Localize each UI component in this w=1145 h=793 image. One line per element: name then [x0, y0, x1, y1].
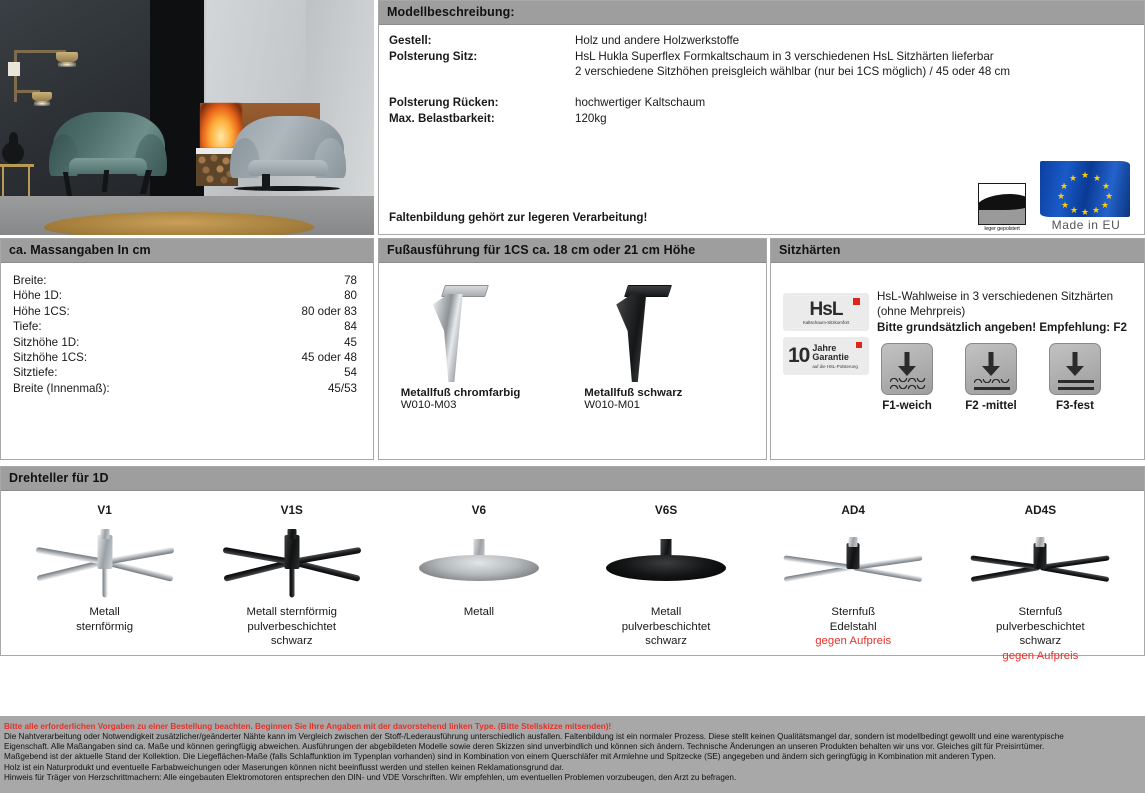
- measurement-value: 80: [344, 288, 357, 303]
- leg-code: W010-M03: [401, 399, 561, 411]
- made-in-eu-badge: ★ ★ ★ ★ ★ ★ ★ ★ ★ ★ ★ ★ Made in EU: [1040, 161, 1132, 232]
- measurement-label: Breite:: [13, 273, 47, 288]
- desc-label: Polsterung Rücken:: [389, 95, 575, 111]
- desc-value: 120kg: [575, 111, 1134, 127]
- swivel-base-title: Drehteller für 1D: [1, 467, 1144, 491]
- firmness-label: F2 -mittel: [963, 399, 1019, 412]
- swivel-desc-line: Metall: [16, 605, 194, 620]
- arrow-down-firm-icon: [1049, 343, 1101, 395]
- black-leg-icon: [610, 285, 672, 385]
- leg-name: Metallfuß schwarz: [584, 387, 744, 399]
- warranty-badge-icon: 10 Jahre Garantie auf die HSL-Polsterung: [783, 337, 869, 375]
- swivel-image-v6: [390, 521, 568, 601]
- firmness-text-line: (ohne Mehrpreis): [877, 304, 1139, 319]
- measurement-row: Breite (Innenmaß): 45/53: [11, 381, 363, 396]
- eu-flag-icon: ★ ★ ★ ★ ★ ★ ★ ★ ★ ★ ★ ★: [1040, 161, 1130, 217]
- measurement-value: 45: [344, 335, 357, 350]
- loose-upholstery-badge: leger gepolstert: [978, 183, 1026, 232]
- swivel-desc-line: pulverbeschichtet: [577, 620, 755, 635]
- product-lifestyle-photo: [0, 0, 374, 235]
- measurement-label: Höhe 1CS:: [13, 304, 70, 319]
- order-warning-text: Bitte alle erforderlichen Vorgaben zu ei…: [4, 722, 1141, 732]
- firmness-panel: Sitzhärten HsL Kaltschaum-Sitzkomfort 10…: [770, 238, 1145, 460]
- leg-option-item[interactable]: Metallfuß chromfarbig W010-M03: [401, 279, 561, 411]
- disc-base-black-icon: [606, 539, 726, 585]
- arrow-down-medium-icon: [965, 343, 1017, 395]
- leg-name: Metallfuß chromfarbig: [401, 387, 561, 399]
- swivel-image-v1: [16, 521, 194, 601]
- desc-label: [389, 64, 575, 80]
- swivel-image-ad4: [764, 521, 942, 601]
- measurement-label: Sitzhöhe 1D:: [13, 335, 79, 350]
- model-description-panel: Modellbeschreibung: Gestell: Holz und an…: [378, 0, 1145, 235]
- hsl-wordmark: HsL: [810, 300, 843, 319]
- measurement-value: 54: [344, 365, 357, 380]
- desc-value: HsL Hukla Superflex Formkaltschaum in 3 …: [575, 49, 1134, 65]
- side-table-with-vase: [0, 128, 34, 196]
- made-in-eu-caption: Made in EU: [1040, 218, 1132, 232]
- armchair-grey: [228, 116, 350, 198]
- chimney: [206, 0, 306, 104]
- firmness-text-line: HsL-Wahlweise in 3 verschiedenen Sitzhär…: [877, 289, 1139, 304]
- disc-base-metal-icon: [419, 539, 539, 585]
- swivel-image-v6s: [577, 521, 755, 601]
- measurement-label: Höhe 1D:: [13, 288, 62, 303]
- swivel-desc-line: Sternfuß: [764, 605, 942, 620]
- swivel-description: Metall sternförmig pulverbeschichtet sch…: [203, 605, 381, 649]
- desc-value: 2 verschiedene Sitzhöhen preisgleich wäh…: [575, 64, 1134, 80]
- swivel-image-v1s: [203, 521, 381, 601]
- measurements-title: ca. Massangaben In cm: [1, 239, 373, 263]
- swivel-desc-line: Metall: [390, 605, 568, 620]
- swivel-code: V6S: [577, 503, 755, 517]
- desc-spacer: [389, 80, 1134, 96]
- warranty-line2: Garantie: [812, 353, 857, 363]
- swivel-desc-line: schwarz: [951, 634, 1129, 649]
- measurement-value: 80 oder 83: [302, 304, 357, 319]
- desc-value: Holz und andere Holzwerkstoffe: [575, 33, 1134, 49]
- measurement-label: Breite (Innenmaß):: [13, 381, 110, 396]
- swivel-desc-line: Edelstahl: [764, 620, 942, 635]
- firmness-text-line: Bitte grundsätzlich angeben! Empfehlung:…: [877, 320, 1139, 335]
- leg-options-panel: Fußausführung für 1CS ca. 18 cm oder 21 …: [378, 238, 767, 460]
- desc-value: hochwertiger Kaltschaum: [575, 95, 1134, 111]
- swivel-desc-line: schwarz: [203, 634, 381, 649]
- disclaimer-line: Maßgebend ist der aktuelle Stand der Kol…: [4, 752, 1141, 762]
- arrow-down-soft-icon: [881, 343, 933, 395]
- swivel-code: V6: [390, 503, 568, 517]
- firmness-label: F1-weich: [879, 399, 935, 412]
- firmness-label: F3-fest: [1047, 399, 1103, 412]
- swivel-option-v1s[interactable]: V1S Metall sternförmig: [203, 503, 381, 663]
- measurement-row: Sitztiefe: 54: [11, 365, 363, 380]
- swivel-desc-line: Sternfuß: [951, 605, 1129, 620]
- measurement-row: Sitzhöhe 1D: 45: [11, 335, 363, 350]
- measurement-row: Höhe 1CS: 80 oder 83: [11, 304, 363, 319]
- firmness-option-f1[interactable]: F1-weich: [879, 343, 935, 412]
- firmness-description: HsL-Wahlweise in 3 verschiedenen Sitzhär…: [877, 289, 1139, 335]
- swivel-description: Metall: [390, 605, 568, 620]
- swivel-desc-line: Metall: [577, 605, 755, 620]
- model-description-title: Modellbeschreibung:: [379, 1, 1144, 25]
- swivel-desc-line: pulverbeschichtet: [203, 620, 381, 635]
- swivel-image-ad4s: [951, 521, 1129, 601]
- swivel-option-ad4s[interactable]: AD4S Sternfuß pulverbeschic: [951, 503, 1129, 663]
- product-spec-sheet: Modellbeschreibung: Gestell: Holz und an…: [0, 0, 1145, 793]
- measurement-label: Sitzhöhe 1CS:: [13, 350, 87, 365]
- swivel-description: Metall pulverbeschichtet schwarz: [577, 605, 755, 649]
- certification-badges: leger gepolstert ★ ★ ★ ★ ★ ★ ★ ★ ★ ★ ★: [978, 161, 1132, 232]
- star-base-black-flat-icon: [965, 535, 1115, 593]
- hsl-subtitle: Kaltschaum-Sitzkomfort: [803, 320, 849, 325]
- firmness-option-f2[interactable]: F2 -mittel: [963, 343, 1019, 412]
- measurement-value: 84: [344, 319, 357, 334]
- disclaimer-line: Die Nahtverarbeitung oder Notwendigkeit …: [4, 732, 1141, 742]
- disclaimer-line: Eigenschaft. Alle Maßangaben sind ca. Ma…: [4, 742, 1141, 752]
- swivel-code: AD4: [764, 503, 942, 517]
- measurement-label: Tiefe:: [13, 319, 42, 334]
- swivel-desc-line: schwarz: [577, 634, 755, 649]
- wall-lamp: [12, 42, 70, 112]
- star-base-stainless-icon: [778, 535, 928, 593]
- measurement-row: Tiefe: 84: [11, 319, 363, 334]
- firmness-title: Sitzhärten: [771, 239, 1144, 263]
- model-description-rows: Gestell: Holz und andere Holzwerkstoffe …: [389, 33, 1134, 126]
- desc-label: Gestell:: [389, 33, 575, 49]
- desc-label: Max. Belastbarkeit:: [389, 111, 575, 127]
- legal-disclaimer-footer: Bitte alle erforderlichen Vorgaben zu ei…: [0, 716, 1145, 793]
- firmness-option-f3[interactable]: F3-fest: [1047, 343, 1103, 412]
- swivel-code: V1S: [203, 503, 381, 517]
- measurement-value: 45/53: [328, 381, 357, 396]
- chrome-leg-icon: [427, 285, 489, 385]
- warranty-years: 10: [788, 346, 809, 366]
- star-base-black-icon: [217, 529, 367, 587]
- leg-image-chrome: [401, 279, 561, 387]
- disclaimer-line: Holz ist ein Naturprodukt und eventuelle…: [4, 763, 1141, 773]
- swivel-desc-line: sternförmig: [16, 620, 194, 635]
- star-base-chrome-icon: [30, 529, 180, 587]
- leg-code: W010-M01: [584, 399, 744, 411]
- swivel-surcharge: gegen Aufpreis: [951, 649, 1129, 664]
- measurement-value: 78: [344, 273, 357, 288]
- leg-image-black: [584, 279, 744, 387]
- leg-option-item[interactable]: Metallfuß schwarz W010-M01: [584, 279, 744, 411]
- swivel-desc-line: pulverbeschichtet: [951, 620, 1129, 635]
- warranty-subtitle: auf die HSL-Polsterung: [812, 364, 857, 369]
- firmness-options: F1-weich F2 -mittel F3: [879, 343, 1103, 412]
- swivel-surcharge: gegen Aufpreis: [764, 634, 942, 649]
- measurement-row: Sitzhöhe 1CS: 45 oder 48: [11, 350, 363, 365]
- measurement-label: Sitztiefe:: [13, 365, 57, 380]
- armchair-green: [47, 112, 172, 198]
- swivel-code: V1: [16, 503, 194, 517]
- measurements-panel: ca. Massangaben In cm Breite: 78 Höhe 1D…: [0, 238, 374, 460]
- swivel-base-panel: Drehteller für 1D V1: [0, 466, 1145, 656]
- swivel-code: AD4S: [951, 503, 1129, 517]
- measurement-value: 45 oder 48: [302, 350, 357, 365]
- swivel-option-v1[interactable]: V1 Metall st: [16, 503, 194, 663]
- measurement-row: Höhe 1D: 80: [11, 288, 363, 303]
- desc-label: Polsterung Sitz:: [389, 49, 575, 65]
- firmness-logos: HsL Kaltschaum-Sitzkomfort 10 Jahre Gara…: [783, 293, 875, 375]
- loose-upholstery-icon: [978, 183, 1026, 225]
- swivel-desc-line: Metall sternförmig: [203, 605, 381, 620]
- swivel-description: Metall sternförmig: [16, 605, 194, 634]
- swivel-option-ad4[interactable]: AD4 Sternfuß Edelstahl: [764, 503, 942, 663]
- folding-note: Faltenbildung gehört zur legeren Verarbe…: [389, 211, 647, 224]
- swivel-description: Sternfuß Edelstahl: [764, 605, 942, 634]
- swivel-option-v6s[interactable]: V6S Metall pulverbeschichtet schwarz: [577, 503, 755, 663]
- measurement-row: Breite: 78: [11, 273, 363, 288]
- swivel-option-v6[interactable]: V6 Metall: [390, 503, 568, 663]
- hsl-logo-icon: HsL Kaltschaum-Sitzkomfort: [783, 293, 869, 331]
- disclaimer-line: Hinweis für Träger von Herzschrittmacher…: [4, 773, 1141, 783]
- leg-options-title: Fußausführung für 1CS ca. 18 cm oder 21 …: [379, 239, 766, 263]
- loose-upholstery-caption: leger gepolstert: [978, 226, 1026, 232]
- swivel-description: Sternfuß pulverbeschichtet schwarz: [951, 605, 1129, 649]
